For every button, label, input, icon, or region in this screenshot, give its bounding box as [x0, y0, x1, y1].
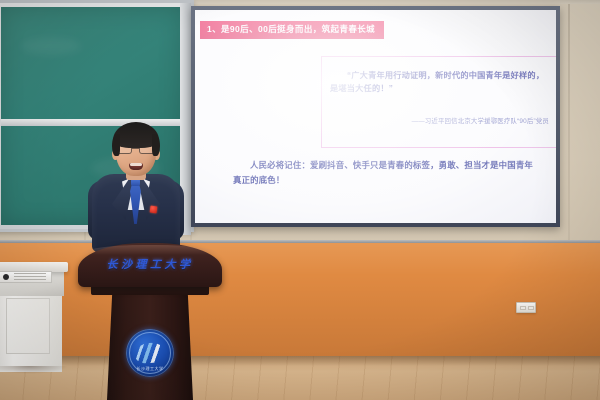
- speaker-hair-left: [112, 134, 120, 156]
- slide-quote-box: “广大青年用行动证明，新时代的中国青年是好样的，是堪当大任的！” ——习近平回信…: [321, 56, 556, 148]
- console-desk: [0, 262, 68, 372]
- slide-quote-attribution: ——习近平回信北京大学援鄂医疗队“90后”党员: [412, 116, 549, 125]
- desk-door: [6, 298, 50, 354]
- speaker: [86, 122, 186, 250]
- party-badge-icon: [150, 206, 158, 214]
- wall-outlet: [516, 302, 536, 313]
- desk-knob[interactable]: [3, 274, 9, 280]
- speaker-teeth: [130, 163, 142, 166]
- speaker-hair-right: [152, 134, 160, 156]
- podium: 长沙理工大学 长沙理工大学: [78, 243, 222, 400]
- podium-university-name: 长沙理工大学: [78, 256, 222, 272]
- desk-labels: [14, 273, 46, 281]
- slide-title-banner: 1、是90后、00后挺身而出，筑起青春长城: [200, 21, 384, 39]
- emblem-chinese-label: 长沙理工大学: [126, 366, 174, 372]
- projection-screen[interactable]: 1、是90后、00后挺身而出，筑起青春长城 “广大青年用行动证明，新时代的中国青…: [195, 10, 556, 223]
- projection-screen-frame: 1、是90后、00后挺身而出，筑起青春长城 “广大青年用行动证明，新时代的中国青…: [191, 6, 560, 227]
- slide-quote-text: “广大青年用行动证明，新时代的中国青年是好样的，是堪当大任的！”: [330, 69, 550, 96]
- speaker-tie-knot: [131, 179, 140, 186]
- university-emblem-icon: 长沙理工大学: [126, 329, 174, 377]
- slide-paragraph: 人民必将记住：爱刷抖音、快手只是青春的标签，勇敢、担当才是中国青年真正的底色！: [233, 158, 538, 187]
- classroom-scene: 1、是90后、00后挺身而出，筑起青春长城 “广大青年用行动证明，新时代的中国青…: [0, 0, 600, 400]
